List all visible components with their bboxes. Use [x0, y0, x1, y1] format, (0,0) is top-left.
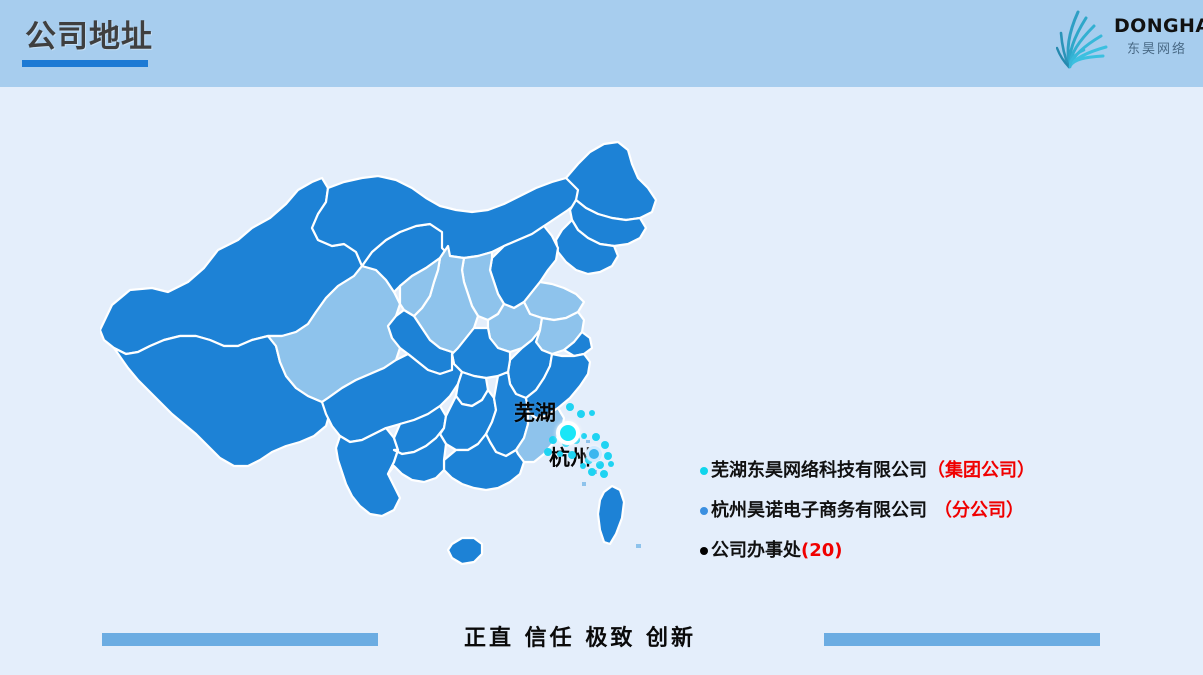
map-marker-hangzhou[interactable] — [586, 446, 602, 462]
fan-wing-logo-icon — [1056, 6, 1114, 72]
logo-text-block: DONGHAO 东昊网络 — [1114, 17, 1200, 56]
map-office-dot[interactable] — [580, 463, 586, 469]
legend-note-branch: 分公司 — [952, 502, 1006, 520]
legend-item-branch-company: 杭州昊诺电子商务有限公司 （ 分公司 ） — [700, 502, 1030, 520]
map-label-wuhu: 芜湖 — [514, 403, 556, 424]
legend-item-group-company: 芜湖东昊网络科技有限公司 （ 集团公司 ） — [700, 462, 1030, 480]
map-office-dot[interactable] — [596, 461, 604, 469]
province-hainan — [448, 538, 482, 564]
legend: 芜湖东昊网络科技有限公司 （ 集团公司 ） 杭州昊诺电子商务有限公司 （ 分公司… — [700, 462, 1030, 582]
legend-paren-close-offices: ) — [834, 542, 842, 560]
china-map — [100, 140, 680, 610]
legend-item-offices: 公司办事处 ( 20 ) — [700, 542, 1030, 560]
map-office-dot[interactable] — [577, 410, 585, 418]
company-logo: DONGHAO 东昊网络 — [1056, 4, 1198, 76]
legend-paren-open-offices: ( — [801, 542, 809, 560]
page-title: 公司地址 — [25, 22, 153, 53]
map-marker-wuhu[interactable] — [556, 421, 580, 445]
footer-bar-left — [102, 633, 378, 646]
legend-paren-close-group: ） — [1017, 462, 1035, 480]
legend-bullet-icon-group — [700, 467, 708, 475]
legend-label-branch: 杭州昊诺电子商务有限公司 — [711, 502, 927, 520]
map-office-dot[interactable] — [600, 470, 608, 478]
legend-bullet-icon-branch — [700, 507, 708, 515]
map-office-dot[interactable] — [588, 468, 596, 476]
logo-name: DONGHAO — [1114, 17, 1200, 36]
slide-header: 公司地址 — [0, 0, 1203, 87]
legend-label-offices: 公司办事处 — [711, 542, 801, 560]
legend-bullet-icon-offices — [700, 547, 708, 555]
province-taiwan — [598, 486, 624, 544]
slide: 公司地址 DONGHAO 东昊网络 — [0, 0, 1203, 675]
logo-subtitle: 东昊网络 — [1114, 43, 1200, 56]
china-map-svg — [100, 140, 680, 610]
legend-paren-open-group: （ — [927, 462, 945, 480]
map-office-dot[interactable] — [566, 403, 574, 411]
legend-label-group: 芜湖东昊网络科技有限公司 — [711, 462, 927, 480]
map-office-dot[interactable] — [604, 452, 612, 460]
legend-paren-close-branch: ） — [1006, 502, 1024, 520]
footer-slogan: 正直 信任 极致 创新 — [455, 626, 705, 652]
map-office-dot[interactable] — [589, 410, 595, 416]
map-office-dot[interactable] — [568, 451, 576, 459]
map-office-dot[interactable] — [557, 451, 563, 457]
title-underline — [22, 60, 148, 67]
footer-bar-right — [824, 633, 1100, 646]
map-office-dot[interactable] — [581, 433, 587, 439]
map-office-dot[interactable] — [544, 448, 552, 456]
map-office-dot[interactable] — [601, 441, 609, 449]
map-office-dot[interactable] — [592, 433, 600, 441]
legend-note-group: 集团公司 — [945, 462, 1017, 480]
map-office-dot[interactable] — [608, 461, 614, 467]
legend-paren-open-branch: （ — [934, 502, 952, 520]
legend-note-offices: 20 — [809, 542, 834, 560]
